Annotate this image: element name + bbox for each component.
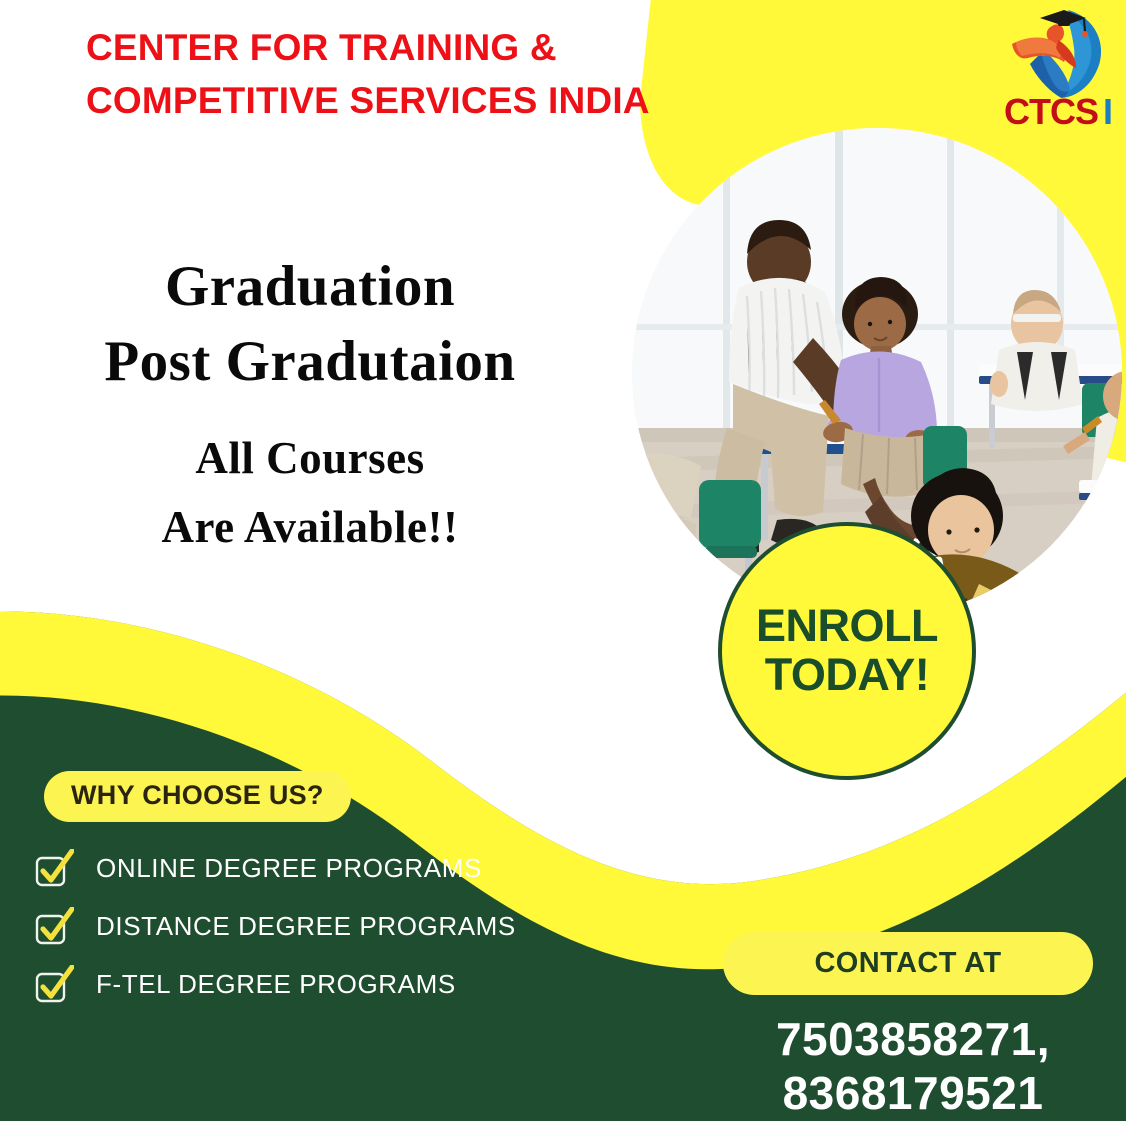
graduate-figure-icon: [1006, 2, 1110, 102]
checkbox-checked-icon: [34, 907, 74, 947]
enroll-badge-line-1: ENROLL: [756, 602, 938, 651]
enroll-today-badge[interactable]: ENROLL TODAY!: [718, 522, 976, 780]
poster-root: CENTER FOR TRAINING & COMPETITIVE SERVIC…: [0, 0, 1126, 1121]
headline-post-graduation: Post Gradutaion: [0, 327, 620, 398]
headline-graduation: Graduation: [0, 252, 620, 323]
enroll-badge-line-2: TODAY!: [765, 651, 930, 700]
org-title-line-2: COMPETITIVE SERVICES INDIA: [86, 75, 706, 128]
why-choose-us-list: ONLINE DEGREE PROGRAMS DISTANCE DEGREE P…: [34, 840, 594, 1014]
contact-phone-2[interactable]: 8368179521: [723, 1067, 1103, 1121]
why-choose-us-title: WHY CHOOSE US?: [44, 771, 351, 822]
logo-wordmark-accent: I: [1103, 91, 1112, 132]
logo-wordmark-main: CTCS: [1004, 91, 1098, 132]
list-item: DISTANCE DEGREE PROGRAMS: [34, 898, 594, 955]
list-item-label: DISTANCE DEGREE PROGRAMS: [96, 911, 516, 942]
contact-phone-numbers: 7503858271, 8368179521: [723, 1013, 1103, 1121]
contact-at-title: CONTACT AT: [723, 932, 1093, 995]
contact-phone-1[interactable]: 7503858271,: [723, 1013, 1103, 1067]
list-item: F-TEL DEGREE PROGRAMS: [34, 956, 594, 1013]
checkbox-checked-icon: [34, 965, 74, 1005]
checkbox-checked-icon: [34, 849, 74, 889]
list-item-label: F-TEL DEGREE PROGRAMS: [96, 969, 456, 1000]
headline-block: Graduation Post Gradutaion All Courses A…: [0, 252, 620, 556]
list-item-label: ONLINE DEGREE PROGRAMS: [96, 853, 482, 884]
headline-are-available: Are Available!!: [0, 498, 620, 557]
list-item: ONLINE DEGREE PROGRAMS: [34, 840, 594, 897]
org-title-line-1: CENTER FOR TRAINING &: [86, 22, 706, 75]
headline-all-courses: All Courses: [0, 429, 620, 488]
org-title: CENTER FOR TRAINING & COMPETITIVE SERVIC…: [86, 22, 706, 127]
ctcsi-logo: CTCSI: [998, 2, 1118, 148]
logo-wordmark: CTCSI: [998, 94, 1118, 130]
